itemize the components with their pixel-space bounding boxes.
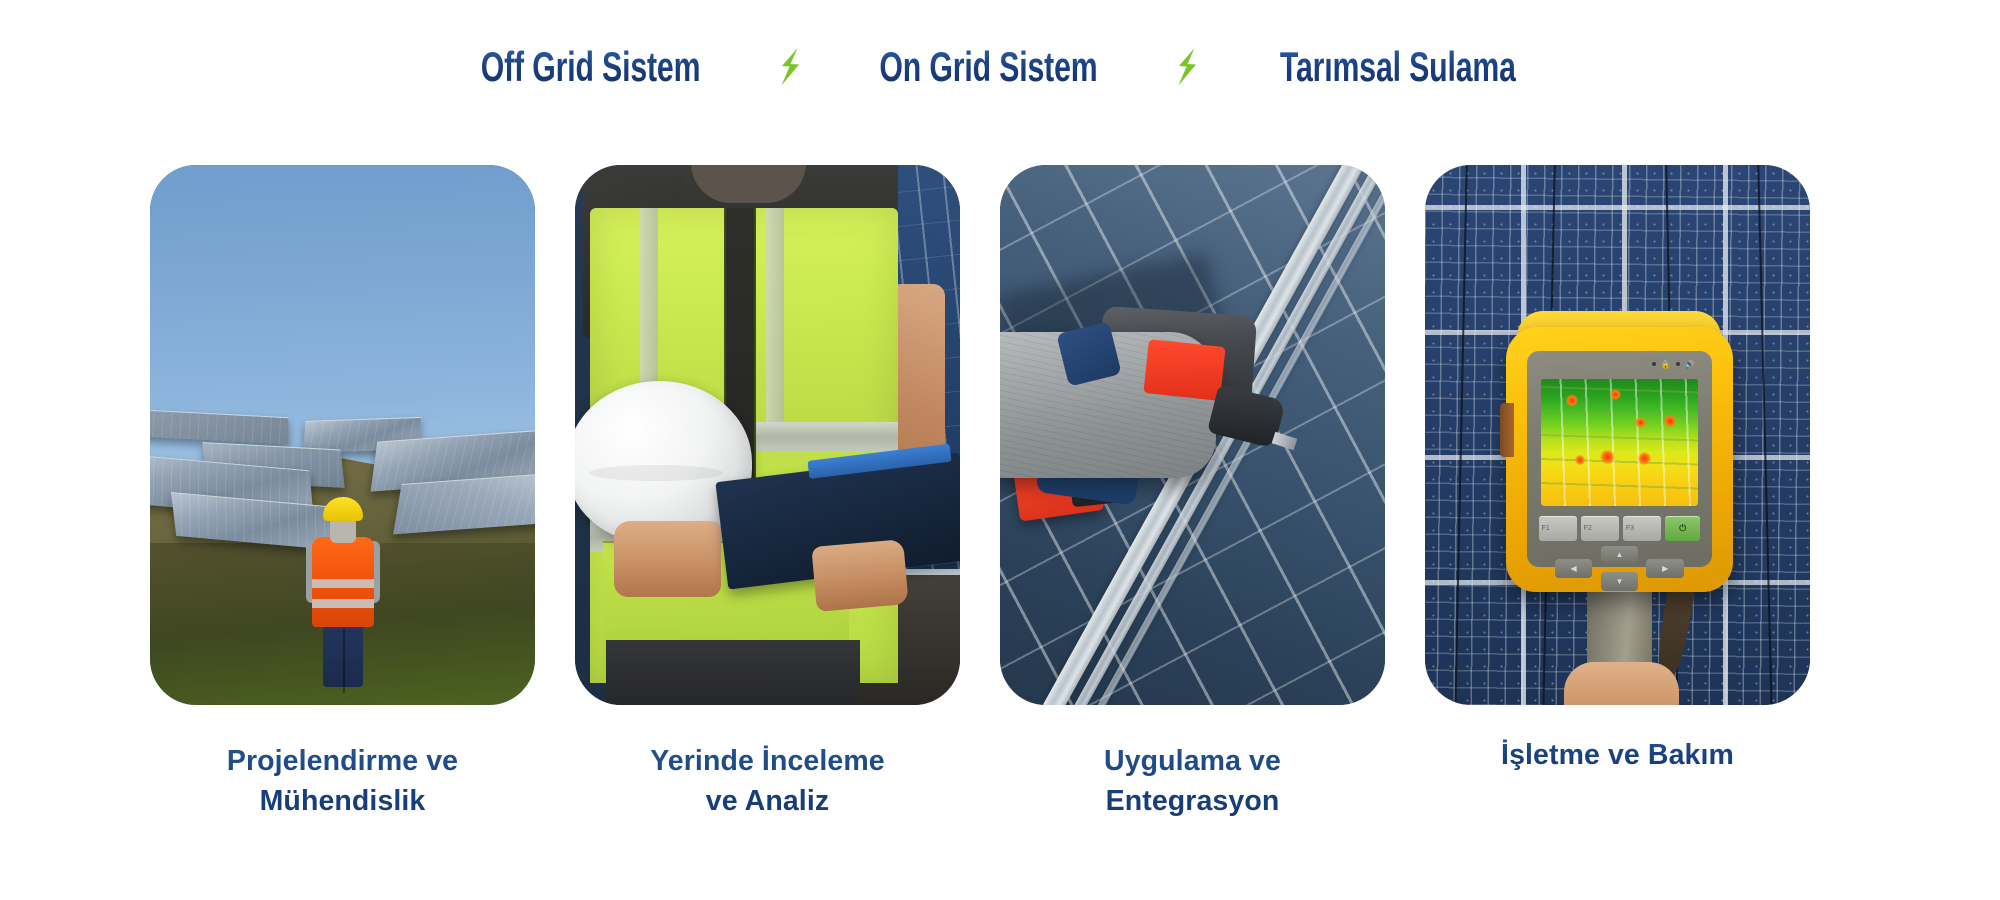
dpad-left-button[interactable]: ◀: [1555, 559, 1593, 578]
vest-stripe-lower: [312, 599, 374, 608]
f1-button[interactable]: F1: [1539, 516, 1577, 541]
service-cards-row: Projelendirme ve Mühendislik: [150, 165, 1810, 822]
camera-indicator-leds: 🔒 🔊: [1541, 356, 1695, 372]
heading-item-wrap-1: On Grid Sistem: [837, 46, 1140, 88]
service-types-heading: Off Grid Sistem On Grid Sistem Tarımsal …: [0, 44, 2000, 90]
card-caption: Uygulama ve Entegrasyon: [1000, 741, 1385, 822]
card-uygulama-ve-entegrasyon[interactable]: Uygulama ve Entegrasyon: [1000, 165, 1385, 822]
worker-legs: [323, 623, 363, 687]
gloved-hand-drill-on-panel-photo[interactable]: [1000, 165, 1385, 705]
card-caption: Yerinde İnceleme ve Analiz: [575, 741, 960, 822]
hi-vis-vest: [312, 537, 374, 627]
card-projelendirme-ve-muhendislik[interactable]: Projelendirme ve Mühendislik: [150, 165, 535, 822]
hard-hat-icon: [323, 497, 363, 521]
card-isletme-ve-bakim[interactable]: 🔒 🔊 F1 F2 F3 ⏻: [1425, 165, 1810, 822]
thermal-camera-on-solar-array-photo[interactable]: 🔒 🔊 F1 F2 F3 ⏻: [1425, 165, 1810, 705]
hotspot-1: [1566, 394, 1579, 407]
inspector-with-clipboard-photo[interactable]: [575, 165, 960, 705]
thermal-display-screen: [1541, 379, 1699, 506]
solar-farm-worker-photo[interactable]: [150, 165, 535, 705]
lightning-bolt-icon-2: [1170, 44, 1204, 90]
hotspot-7: [1575, 455, 1584, 465]
power-button[interactable]: ⏻: [1665, 516, 1700, 541]
camera-function-button-row: F1 F2 F3 ⏻: [1539, 516, 1701, 541]
vest-stripe-upper: [312, 579, 374, 588]
heading-label-tarimsal-sulama[interactable]: Tarımsal Sulama: [1280, 46, 1516, 88]
hotspot-6: [1638, 452, 1651, 465]
dark-trousers: [606, 640, 860, 705]
heading-label-off-grid[interactable]: Off Grid Sistem: [481, 46, 701, 88]
led-2: [1676, 362, 1680, 366]
speaker-icon: 🔊: [1685, 360, 1695, 369]
card-caption: Projelendirme ve Mühendislik: [150, 741, 535, 822]
heading-item-wrap-2: Tarımsal Sulama: [1234, 46, 1562, 88]
lock-icon: 🔒: [1661, 360, 1671, 369]
drill-red-accent: [1144, 339, 1226, 401]
f3-button[interactable]: F3: [1623, 516, 1661, 541]
hotspot-5: [1600, 450, 1614, 464]
heading-label-on-grid[interactable]: On Grid Sistem: [880, 46, 1098, 88]
hand-left: [614, 521, 722, 597]
led-1: [1652, 362, 1656, 366]
dpad-down-button[interactable]: ▼: [1601, 572, 1639, 590]
camera-dpad: ▲ ◀ ▶ ▼: [1552, 546, 1687, 592]
hand-right: [811, 539, 909, 612]
operator-hand: [1564, 662, 1680, 705]
heading-item-wrap-0: Off Grid Sistem: [438, 46, 743, 88]
vest-reflector-vertical-b: [766, 208, 784, 427]
f2-button[interactable]: F2: [1581, 516, 1619, 541]
dpad-up-button[interactable]: ▲: [1601, 546, 1639, 564]
dpad-right-button[interactable]: ▶: [1646, 559, 1684, 578]
card-yerinde-inceleme-ve-analiz[interactable]: Yerinde İnceleme ve Analiz: [575, 165, 960, 822]
card-caption: İşletme ve Bakım: [1425, 735, 1810, 775]
lightning-bolt-icon: [773, 44, 807, 90]
camera-side-grip: [1500, 403, 1513, 457]
worker-figure: [308, 497, 378, 687]
